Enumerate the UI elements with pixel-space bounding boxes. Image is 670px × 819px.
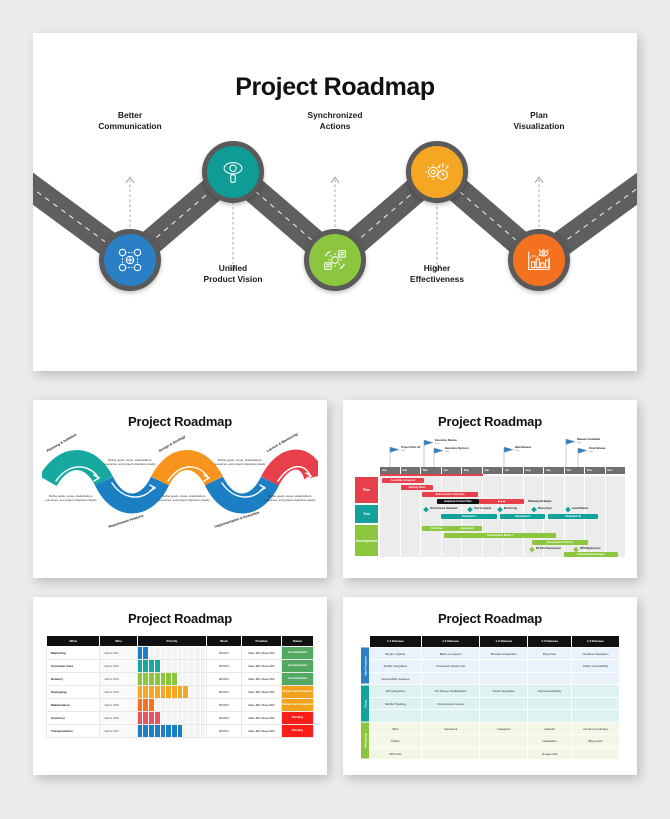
cell-work: 00:00 h (207, 647, 242, 660)
month-cell: Nov (585, 467, 606, 474)
table-row[interactable]: TwitterNewsletterBlog posts (361, 735, 620, 748)
roadmap-label-4-text: HigherEffectiveness (410, 263, 464, 284)
cell (528, 660, 572, 673)
status-badge: Pending (281, 725, 313, 738)
cell: Facebook (421, 722, 479, 735)
cell-priority (137, 686, 206, 699)
roadmap-node-3[interactable] (304, 229, 366, 291)
table-row[interactable]: PPC AdsGoogle Ads (361, 747, 620, 760)
month-cell: Jun (483, 467, 504, 474)
cell-work: 00:00 h (207, 712, 242, 725)
th-what: What (47, 636, 100, 647)
wave-desc-5: Define goals, scope, stakeholders, resou… (264, 495, 316, 503)
month-cell: Apr (442, 467, 463, 474)
th-timeline: Timeline (241, 636, 281, 647)
dev-milestone-diamonds (352, 546, 628, 554)
cell: Back up support (421, 647, 479, 660)
cell-timeline: Date #01-Date #02 (241, 686, 281, 699)
cell-timeline: Date #01-Date #02 (241, 660, 281, 673)
roadmap-label-1-text: BetterCommunication (98, 110, 161, 131)
cell: Mobile Tracking (370, 697, 422, 710)
test-milestone-diamonds (352, 506, 628, 514)
flag-label-4: Beta Release (515, 446, 531, 449)
slide-deck-preview: Project Roadmap (0, 0, 670, 819)
roadmap-node-4[interactable] (406, 141, 468, 203)
flag-sub-3: Date (445, 451, 449, 453)
gantt-bar[interactable]: Alpha build (452, 526, 482, 531)
gantt-bar-diamonds[interactable]: ◆ ◆ ◆ (479, 499, 524, 504)
roadmap-label-1: BetterCommunication (65, 110, 195, 133)
status-badge: Started not Completed (281, 686, 313, 699)
cell-what: Inventory (47, 712, 100, 725)
flag-sub-4: Date (515, 450, 519, 452)
month-cell: Jan (380, 467, 401, 474)
month-cell: Jul (503, 467, 524, 474)
eye-magnifier-icon (218, 157, 248, 187)
sync-gear-icon (320, 245, 350, 275)
cell-priority (137, 712, 206, 725)
roadmap-label-4: HigherEffectiveness (372, 263, 502, 286)
gantt-bar[interactable]: Subcontractor Selection (422, 492, 478, 497)
table-row[interactable]: InventoryName #0600:00 hDate #01-Date #0… (47, 712, 314, 725)
roadmap-label-3-text: SynchronizedActions (308, 110, 363, 131)
table-row[interactable]: Mobile integrationIncreased refresh rate… (361, 660, 620, 673)
table1-title: Project Roadmap (42, 611, 318, 626)
cell-timeline: Date #01-Date #02 (241, 673, 281, 686)
flag-sub-1: Date (401, 450, 405, 452)
th-who: Who (100, 636, 137, 647)
wave-slide[interactable]: Project Roadmap (33, 400, 327, 578)
status-badge: Accomplished (281, 647, 313, 660)
cell-who: Name #03 (100, 673, 137, 686)
cell: Engine Update (370, 647, 422, 660)
cell-what: Delivery (47, 673, 100, 686)
table-row[interactable]: PackagingName #0400:00 hDate #01-Date #0… (47, 686, 314, 699)
gantt-note: Planning KO Begin (528, 500, 552, 503)
cell (480, 672, 528, 685)
cell-work: 00:00 h (207, 699, 242, 712)
th-release-2: 1.2 Release (421, 636, 479, 648)
th-release-1: 1.1 Release (370, 636, 422, 648)
month-cell: Sep (544, 467, 565, 474)
gantt-bar[interactable]: Helpdesk Content Plan (437, 499, 479, 504)
roadmap-graphic: BetterCommunication UnifiedProduct Visio… (33, 120, 637, 350)
gantt-title: Project Roadmap (352, 414, 628, 429)
cell: Linkedin (528, 722, 572, 735)
roadmap-label-3: SynchronizedActions (270, 110, 400, 133)
cell (528, 697, 572, 710)
cell-priority (137, 647, 206, 660)
cell (480, 747, 528, 760)
cell (480, 660, 528, 673)
cell-who: Name #05 (100, 699, 137, 712)
cell-who: Name #02 (100, 660, 137, 673)
status-table-slide[interactable]: Project Roadmap What Who Priority Work T… (33, 597, 327, 775)
status-badge: Pending (281, 712, 313, 725)
table-row[interactable]: DeliveryName #0300:00 hDate #01-Date #02… (47, 673, 314, 686)
cell (421, 735, 479, 748)
roadmap-node-2[interactable] (202, 141, 264, 203)
cell-priority (137, 660, 206, 673)
cell (571, 747, 619, 760)
table-row[interactable]: MaintenanceName #0500:00 hDate #01-Date … (47, 699, 314, 712)
table-row[interactable]: FixesAPI integrationOn-Screen Notificati… (361, 685, 620, 698)
cell: Desktop integration (571, 647, 619, 660)
chart-vision-icon (524, 245, 554, 275)
milestone-flags (352, 431, 628, 471)
flag-label-6: Final Release (589, 447, 606, 450)
gantt-bar[interactable]: Integration II (500, 514, 545, 519)
gantt-bar[interactable]: Prototype (422, 526, 452, 531)
cell-timeline: Date #01-Date #02 (241, 712, 281, 725)
th-release-5: 1.5 Release (571, 636, 619, 648)
cell (528, 710, 572, 723)
gantt-bar[interactable]: Development Phase I (444, 533, 556, 538)
roadmap-node-5[interactable] (508, 229, 570, 291)
gantt-slide[interactable]: Project Roadmap Project Kick-off Date Ex… (343, 400, 637, 578)
table-row[interactable]: TransportationName #0700:00 hDate #01-Da… (47, 725, 314, 738)
th-corner (361, 636, 370, 648)
table-row[interactable]: MarketingName #0100:00 hDate #01-Date #0… (47, 647, 314, 660)
flag-sub-5: Date (577, 442, 581, 444)
cell (480, 710, 528, 723)
cell-what: Transportation (47, 725, 100, 738)
release-table: 1.1 Release 1.2 Release 1.3 Release 1.4 … (360, 635, 620, 760)
cell (421, 747, 479, 760)
flag-label-2: Executive Review (435, 439, 457, 442)
cell (571, 685, 619, 698)
th-release-4: 1.4 Release (528, 636, 572, 648)
flag-label-3: Executive Decision (445, 447, 469, 450)
cell: PPC Ads (370, 747, 422, 760)
roadmap-label-5-text: PlanVisualization (513, 110, 564, 131)
cell: API integration (370, 685, 422, 698)
table-row[interactable]: MarketingSEOFacebookInstagramLinkedinCon… (361, 722, 620, 735)
cell (421, 710, 479, 723)
table-header-row: What Who Priority Work Timeline Status (47, 636, 314, 647)
cell-priority (137, 673, 206, 686)
cell (480, 697, 528, 710)
cell: Instagram (480, 722, 528, 735)
cell: Bug Fixes (528, 647, 572, 660)
cell-who: Name #07 (100, 725, 137, 738)
cell-timeline: Date #01-Date #02 (241, 699, 281, 712)
gantt-bar[interactable]: Integration III (548, 514, 598, 519)
cell: Increased refresh rate (421, 660, 479, 673)
table-row[interactable]: Accessibility features (361, 672, 620, 685)
flag-label-5: Release Candidate (577, 438, 600, 441)
th-release-3: 1.3 Release (480, 636, 528, 648)
wave-title: Project Roadmap (42, 414, 318, 429)
wave-diagram: Planning & Initiation Requirement Analys… (42, 433, 318, 551)
cell: Twitter (370, 735, 422, 748)
gantt-bar[interactable]: Development Phase II (532, 540, 588, 545)
cell (571, 697, 619, 710)
month-cell: May (462, 467, 483, 474)
roadmap-node-1[interactable] (99, 229, 161, 291)
page-title: Project Roadmap (33, 73, 637, 102)
cell: Mobile integration (370, 660, 422, 673)
category-label: Marketing (361, 722, 370, 760)
th-status: Status (281, 636, 313, 647)
cell-priority (137, 725, 206, 738)
table-row[interactable] (361, 710, 620, 723)
th-work: Work (207, 636, 242, 647)
gantt-month-header: Jan Feb Mar Apr May Jun Jul Aug Sep Oct … (380, 467, 626, 474)
table2-title: Project Roadmap (352, 611, 628, 626)
cell: Fixed known issues (421, 697, 479, 710)
cell: Blog posts (571, 735, 619, 748)
gantt-row-plan: Plan (354, 476, 379, 504)
table-row[interactable]: New FeaturesEngine UpdateBack up support… (361, 647, 620, 660)
cell-work: 00:00 h (207, 660, 242, 673)
cell-what: Maintenance (47, 699, 100, 712)
cell-timeline: Date #01-Date #02 (241, 647, 281, 660)
cell (480, 735, 528, 748)
flag-label-1: Project Kick-off (401, 446, 420, 449)
month-cell: Mar (421, 467, 442, 474)
roadmap-label-2-text: UnifiedProduct Vision (204, 263, 263, 284)
th-priority: Priority (137, 636, 206, 647)
cell-who: Name #04 (100, 686, 137, 699)
category-label: Fixes (361, 685, 370, 723)
cell-who: Name #06 (100, 712, 137, 725)
cell-work: 00:00 h (207, 673, 242, 686)
cell: Google Ads (528, 747, 572, 760)
month-cell: Dec (606, 467, 627, 474)
roadmap-label-5: PlanVisualization (474, 110, 604, 133)
wave-desc-3: Define goals, scope, stakeholders, resou… (158, 495, 210, 503)
cell: SEO (370, 722, 422, 735)
cell: Cloud integration (480, 685, 528, 698)
hero-slide: Project Roadmap (33, 33, 637, 371)
wave-desc-4: Define goals, scope, stakeholders, resou… (214, 459, 266, 467)
cell: Accessibility features (370, 672, 422, 685)
table-header-row: 1.1 Release 1.2 Release 1.3 Release 1.4 … (361, 636, 620, 648)
cell-priority (137, 699, 206, 712)
flag-sub-2: Date (435, 443, 439, 445)
gantt-bar[interactable]: Starting Plans (401, 485, 433, 490)
month-cell: Oct (565, 467, 586, 474)
cell (571, 710, 619, 723)
status-badge: Accomplished (281, 673, 313, 686)
cell: Newsletter (528, 735, 572, 748)
gear-clock-icon (422, 157, 452, 187)
status-badge: Started not Completed (281, 699, 313, 712)
cell-what: Customer Care (47, 660, 100, 673)
cell-work: 00:00 h (207, 725, 242, 738)
cell (370, 710, 422, 723)
cell: Content marketing (571, 722, 619, 735)
flag-sub-6: Date (589, 451, 593, 453)
cell: Browser integration (480, 647, 528, 660)
month-cell: Feb (401, 467, 422, 474)
cell: Tablet compatibility (571, 660, 619, 673)
wave-desc-1: Define goals, scope, stakeholders, resou… (45, 495, 97, 503)
category-label: New Features (361, 647, 370, 685)
status-table: What Who Priority Work Timeline Status M… (46, 635, 314, 738)
cell-what: Marketing (47, 647, 100, 660)
month-cell: Aug (524, 467, 545, 474)
cell-timeline: Date #01-Date #02 (241, 725, 281, 738)
table-row[interactable]: Mobile TrackingFixed known issues (361, 697, 620, 710)
table-row[interactable]: Customer CareName #0200:00 hDate #01-Dat… (47, 660, 314, 673)
wave-desc-2: Define goals, scope, stakeholders, resou… (104, 459, 156, 467)
cell: On-Screen Notifications (421, 685, 479, 698)
network-people-icon (115, 245, 145, 275)
status-badge: Accomplished (281, 660, 313, 673)
cell-what: Packaging (47, 686, 100, 699)
roadmap-label-2: UnifiedProduct Vision (168, 263, 298, 286)
cell (571, 672, 619, 685)
cell-work: 00:00 h (207, 686, 242, 699)
cell (421, 672, 479, 685)
gantt-bar[interactable]: Integration I (441, 514, 497, 519)
cell-who: Name #01 (100, 647, 137, 660)
cell (528, 672, 572, 685)
cell: Improved stability (528, 685, 572, 698)
gantt-chart: Project Kick-off Date Executive Review D… (352, 431, 628, 559)
release-table-slide[interactable]: Project Roadmap 1.1 Release 1.2 Release … (343, 597, 637, 775)
gantt-bar[interactable]: Assemble resources (382, 478, 424, 483)
